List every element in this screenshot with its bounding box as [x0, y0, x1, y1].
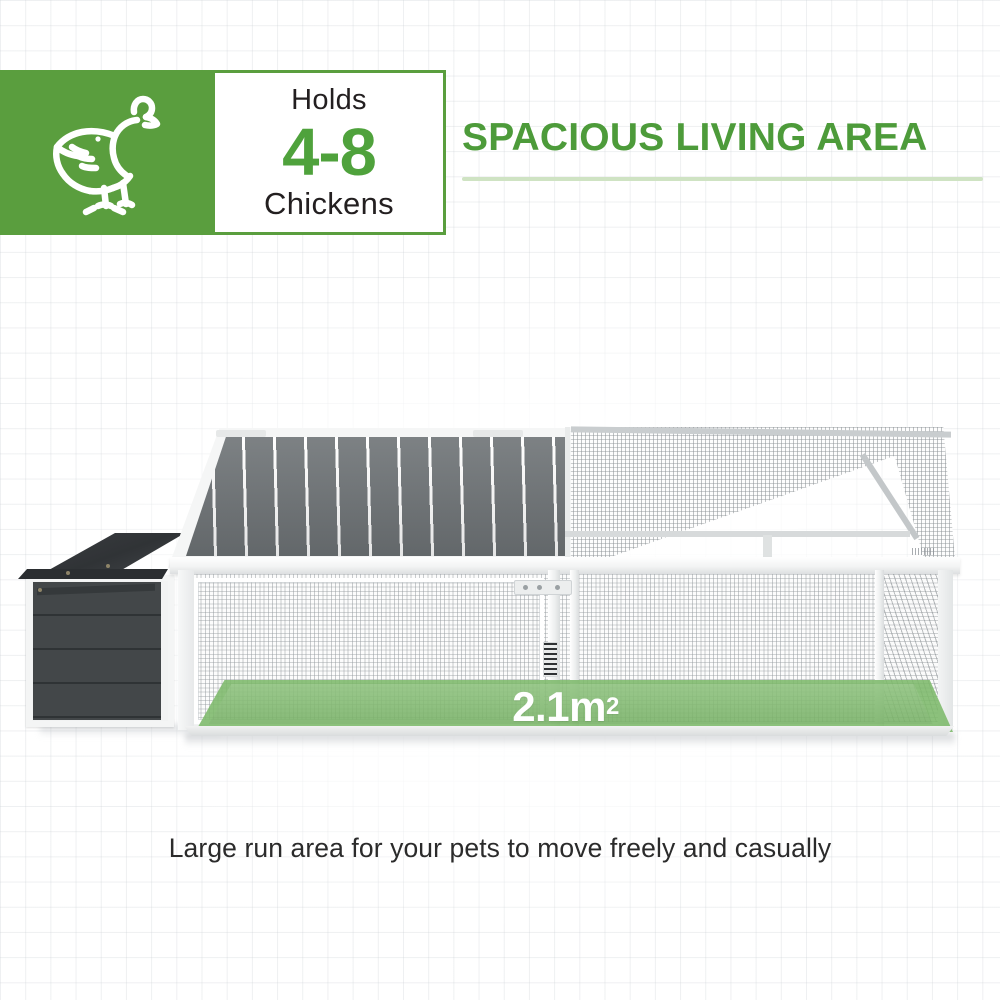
screw-icon [106, 564, 110, 568]
aframe-left-post [565, 427, 570, 558]
run-base-rail [176, 726, 958, 736]
coop-roof-planks [186, 437, 566, 556]
latch-dot [555, 585, 560, 590]
run-vent-strip [543, 642, 558, 677]
run-door-latch[interactable] [514, 580, 572, 595]
area-value: 2.1m [512, 683, 606, 731]
latch-dot [523, 585, 528, 590]
icon-panel [0, 70, 215, 235]
screw-icon [38, 588, 42, 592]
capacity-suffix-label: Chickens [264, 188, 394, 219]
roof-clip [473, 430, 523, 437]
title-block: SPACIOUS LIVING AREA [462, 118, 986, 181]
page-title: SPACIOUS LIVING AREA [462, 118, 986, 157]
nesting-box-panels [33, 582, 161, 720]
screw-icon [66, 571, 70, 575]
caption-text: Large run area for your pets to move fre… [0, 833, 1000, 864]
aframe-mesh [565, 427, 955, 558]
run-aframe-roof [565, 427, 955, 572]
chicken-icon [48, 90, 168, 216]
coop-roof [168, 428, 580, 568]
roof-clip [216, 430, 266, 437]
product-illustration: 2.1m2 [0, 400, 1000, 800]
infographic-page: Holds 4-8 Chickens SPACIOUS LIVING AREA [0, 0, 1000, 1000]
capacity-prefix-label: Holds [291, 86, 367, 115]
brand-plate [912, 548, 934, 555]
title-underline [462, 177, 983, 181]
capacity-count: 4-8 [282, 119, 376, 186]
nesting-box-roof-edge [18, 569, 168, 579]
latch-dot [537, 585, 542, 590]
header-banner: Holds 4-8 Chickens [0, 70, 446, 235]
area-label: 2.1m2 [178, 683, 953, 731]
capacity-stat-box: Holds 4-8 Chickens [215, 70, 446, 235]
aframe-bottom-rail [565, 531, 910, 537]
